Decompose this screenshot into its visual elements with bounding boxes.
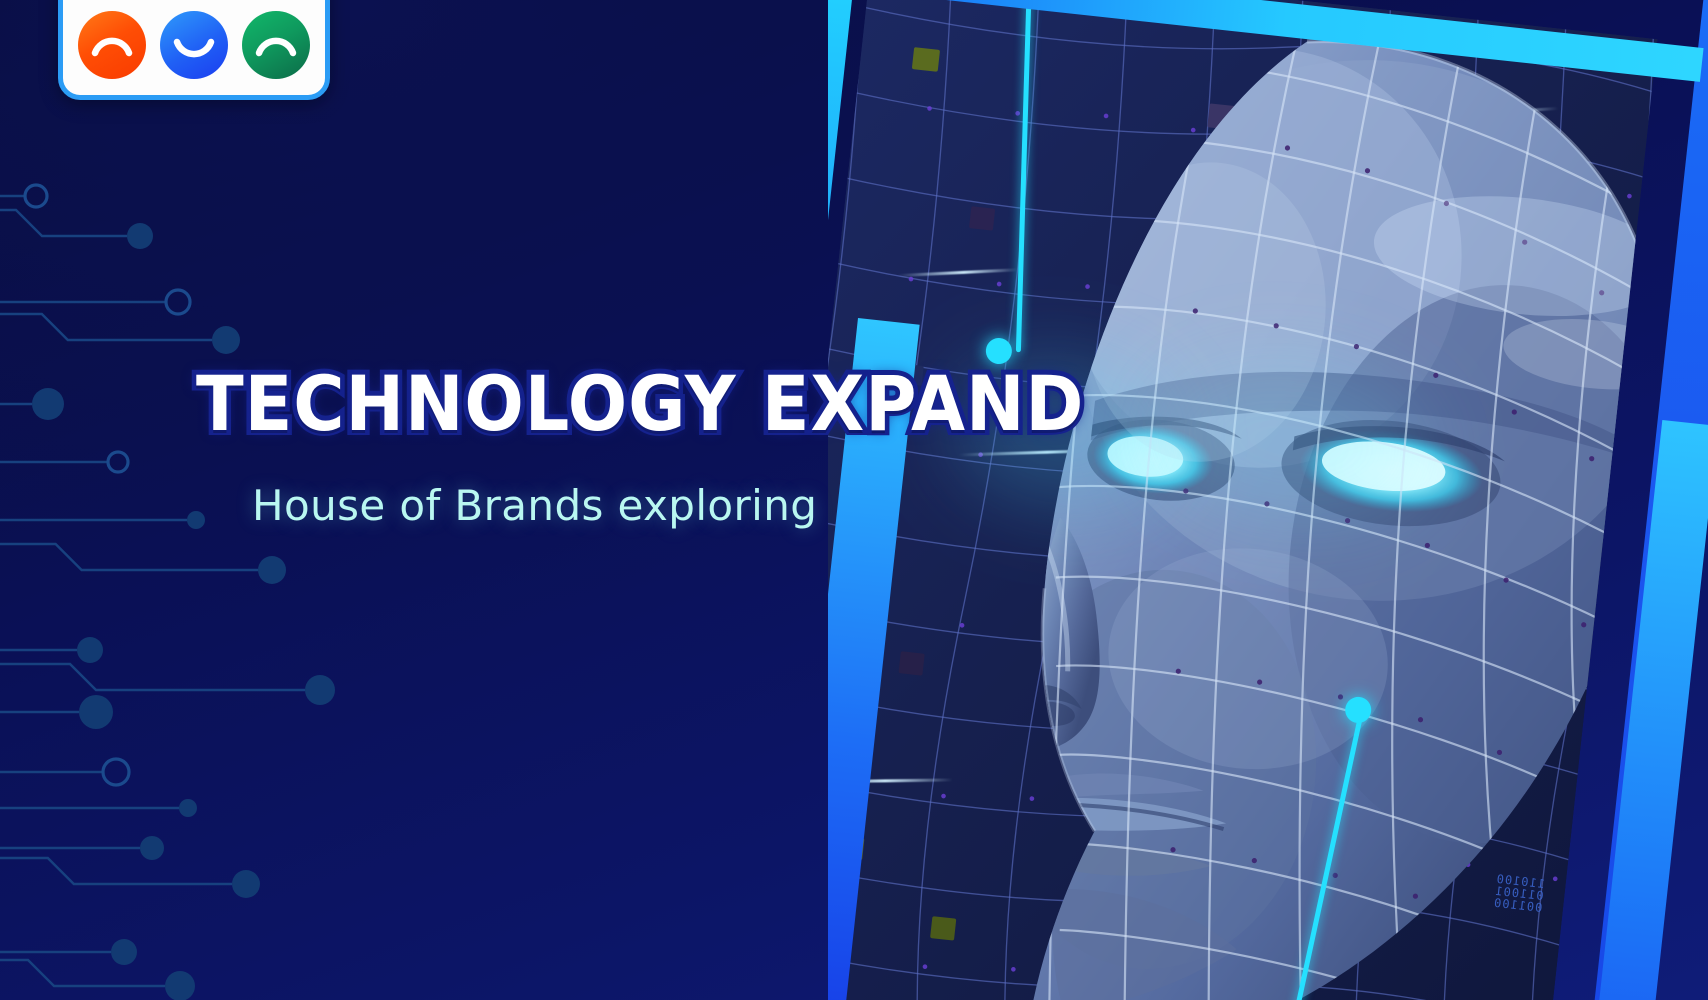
- ai-image-frame: 1010100101011011001010100101011011000110…: [828, 0, 1657, 1000]
- headline-block: TECHNOLOGY EXPAND: [196, 366, 1162, 442]
- ai-head-graphic: [874, 0, 1658, 1000]
- page-title: TECHNOLOGY EXPAND: [196, 366, 1084, 442]
- green-arc-mark-icon: [242, 11, 310, 79]
- page-subtitle: House of Brands exploring: [252, 481, 817, 530]
- orange-arc-mark-icon: [78, 11, 146, 79]
- blue-smile-mark-icon: [160, 11, 228, 79]
- poster-canvas: TECHNOLOGY EXPAND House of Brands explor…: [0, 0, 1708, 1000]
- ai-head-panel: 1010100101011011001010100101011011000110…: [828, 0, 1708, 1000]
- brand-logo-badge[interactable]: [58, 0, 330, 100]
